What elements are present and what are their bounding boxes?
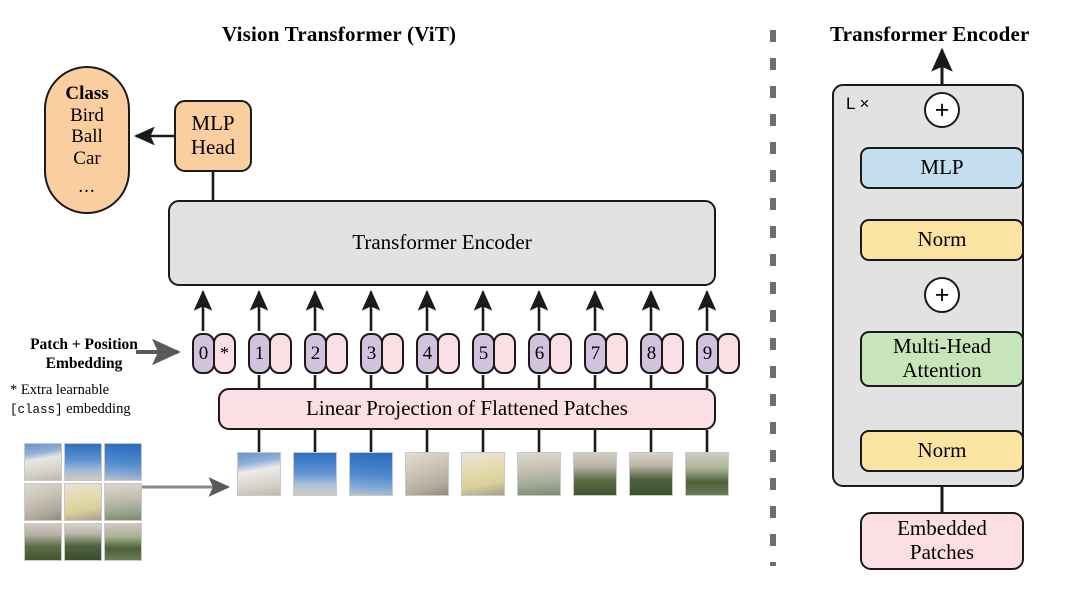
norm-top-label: Norm <box>918 228 967 252</box>
source-patch-r1c1 <box>24 443 62 481</box>
position-embedding-5: 5 <box>472 333 495 374</box>
patch-position-line2: Embedding <box>6 355 162 374</box>
mlp-head-line1: MLP <box>191 112 234 136</box>
mlp-head-line2: Head <box>191 136 235 160</box>
patch-embedding-5 <box>493 333 516 374</box>
mlp-block: MLP <box>860 147 1024 189</box>
sequence-patch-2 <box>293 452 337 496</box>
sequence-patch-1 <box>237 452 281 496</box>
position-embedding-0: 0 <box>192 333 215 374</box>
source-patch-r3c1 <box>24 523 62 561</box>
position-embedding-1: 1 <box>248 333 271 374</box>
patch-embedding-7 <box>605 333 628 374</box>
vit-architecture-figure: Vision Transformer (ViT) Class Bird Ball… <box>0 0 1080 593</box>
sequence-patch-8 <box>629 452 673 496</box>
sequence-patch-9 <box>685 452 729 496</box>
embedded-patches-line2: Patches <box>910 541 974 565</box>
embedded-patches-block: Embedded Patches <box>860 512 1024 570</box>
source-patch-r3c3 <box>104 523 142 561</box>
transformer-encoder-label: Transformer Encoder <box>352 231 531 255</box>
footnote-line1: * Extra learnable <box>10 381 168 400</box>
position-embedding-6: 6 <box>528 333 551 374</box>
footnote-line2: [class] embedding <box>10 400 168 419</box>
source-patch-r1c2 <box>64 443 102 481</box>
figure-title-vit: Vision Transformer (ViT) <box>222 22 456 47</box>
sequence-patch-6 <box>517 452 561 496</box>
position-embedding-7: 7 <box>584 333 607 374</box>
multi-head-attention-block: Multi-Head Attention <box>860 331 1024 387</box>
repeat-count-label: L × <box>846 94 869 114</box>
plus-bottom-symbol: + <box>935 283 950 308</box>
patch-position-line1: Patch + Position <box>6 336 162 355</box>
class-pill-header: Class <box>65 83 108 104</box>
figure-title-encoder: Transformer Encoder <box>830 22 1030 47</box>
patch-embedding-3 <box>381 333 404 374</box>
patch-embedding-8 <box>661 333 684 374</box>
mha-line2: Attention <box>902 359 981 383</box>
class-label-ellipsis: ... <box>78 176 95 197</box>
mlp-block-label: MLP <box>920 156 963 180</box>
position-embedding-8: 8 <box>640 333 663 374</box>
patch-position-embedding-label: Patch + Position Embedding <box>6 336 162 373</box>
norm-block-top: Norm <box>860 219 1024 261</box>
class-label-ball: Ball <box>71 126 103 147</box>
norm-bottom-label: Norm <box>918 439 967 463</box>
patch-embedding-2 <box>325 333 348 374</box>
class-token-embedding: * <box>213 333 236 374</box>
residual-add-bottom: + <box>924 277 960 313</box>
source-patch-r2c2 <box>64 483 102 521</box>
linear-projection-block: Linear Projection of Flattened Patches <box>218 388 716 430</box>
position-embedding-2: 2 <box>304 333 327 374</box>
mha-line1: Multi-Head <box>893 335 991 359</box>
sequence-patch-4 <box>405 452 449 496</box>
sequence-patch-3 <box>349 452 393 496</box>
mlp-head-block: MLP Head <box>174 100 252 172</box>
class-output-pill: Class Bird Ball Car ... <box>44 66 130 214</box>
patch-embedding-4 <box>437 333 460 374</box>
position-embedding-9: 9 <box>696 333 719 374</box>
source-patch-r2c3 <box>104 483 142 521</box>
residual-add-top: + <box>924 92 960 128</box>
extra-learnable-footnote: * Extra learnable [class] embedding <box>10 381 168 418</box>
source-patch-r1c3 <box>104 443 142 481</box>
patch-embedding-9 <box>717 333 740 374</box>
transformer-encoder-block: Transformer Encoder <box>168 200 716 286</box>
embedded-patches-line1: Embedded <box>897 517 987 541</box>
position-embedding-3: 3 <box>360 333 383 374</box>
norm-block-bottom: Norm <box>860 430 1024 472</box>
source-patch-r3c2 <box>64 523 102 561</box>
source-patch-r2c1 <box>24 483 62 521</box>
class-token-mono: [class] <box>10 403 63 417</box>
patch-embedding-1 <box>269 333 292 374</box>
linear-projection-label: Linear Projection of Flattened Patches <box>306 397 628 421</box>
sequence-patch-7 <box>573 452 617 496</box>
patch-embedding-6 <box>549 333 572 374</box>
position-embedding-4: 4 <box>416 333 439 374</box>
class-label-car: Car <box>73 148 100 169</box>
footnote-line2-rest: embedding <box>63 401 131 417</box>
plus-top-symbol: + <box>935 98 950 123</box>
class-label-bird: Bird <box>70 105 104 126</box>
sequence-patch-5 <box>461 452 505 496</box>
